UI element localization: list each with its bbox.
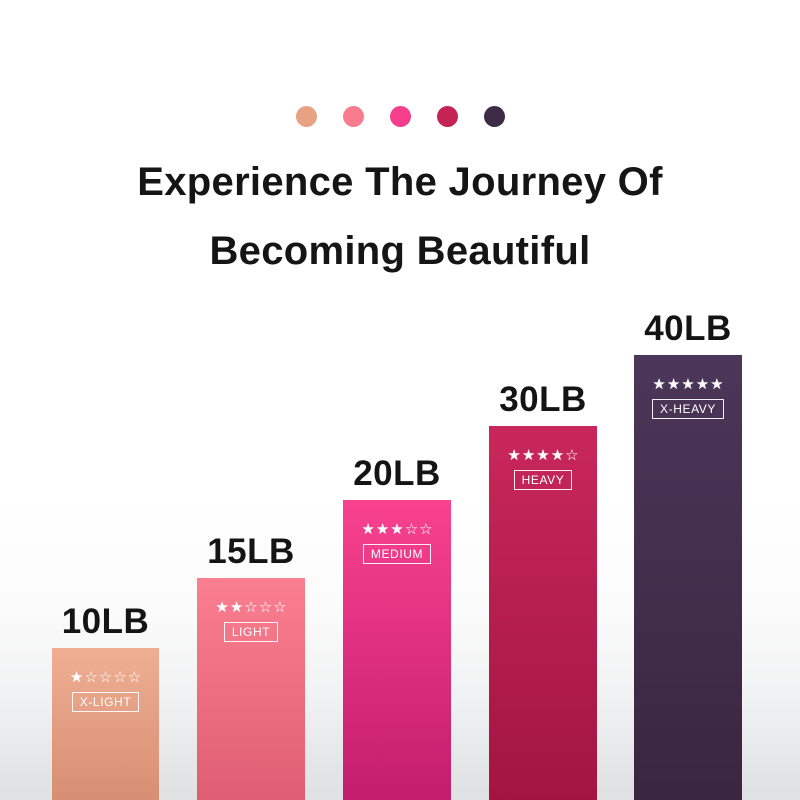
tier-badge: X-LIGHT	[72, 692, 140, 712]
star-rating: ★★★☆☆	[353, 522, 441, 537]
star-filled-icon: ★	[390, 522, 403, 537]
bar-group[interactable]: 15LB★★☆☆☆LIGHT	[197, 578, 305, 800]
star-rating: ★☆☆☆☆	[62, 670, 150, 685]
bar-group[interactable]: 10LB★☆☆☆☆X-LIGHT	[52, 648, 159, 800]
bar-group[interactable]: 40LB★★★★★X-HEAVY	[634, 355, 742, 800]
bar-value-label: 10LB	[62, 602, 150, 642]
star-empty-icon: ☆	[565, 448, 578, 463]
star-empty-icon: ☆	[273, 600, 286, 615]
resistance-bar-chart: 10LB★☆☆☆☆X-LIGHT15LB★★☆☆☆LIGHT20LB★★★☆☆M…	[0, 0, 800, 800]
star-filled-icon: ★	[551, 448, 564, 463]
star-empty-icon: ☆	[405, 522, 418, 537]
star-filled-icon: ★	[681, 377, 694, 392]
star-rating: ★★★★☆	[499, 448, 587, 463]
bar-x-heavy[interactable]: ★★★★★X-HEAVY	[634, 355, 742, 800]
bar-medium[interactable]: ★★★☆☆MEDIUM	[343, 500, 451, 800]
bar-value-label: 20LB	[353, 454, 441, 494]
promo-banner: Experience The Journey Of Becoming Beaut…	[0, 0, 800, 800]
star-rating: ★★☆☆☆	[207, 600, 295, 615]
bar-light[interactable]: ★★☆☆☆LIGHT	[197, 578, 305, 800]
tier-badge: LIGHT	[224, 622, 278, 642]
bar-badge: ★★☆☆☆LIGHT	[207, 600, 295, 642]
bar-badge: ★★★★☆HEAVY	[499, 448, 587, 490]
star-filled-icon: ★	[70, 670, 83, 685]
tier-badge: X-HEAVY	[652, 399, 724, 419]
star-filled-icon: ★	[667, 377, 680, 392]
star-empty-icon: ☆	[419, 522, 432, 537]
star-empty-icon: ☆	[113, 670, 126, 685]
star-empty-icon: ☆	[259, 600, 272, 615]
bar-badge: ★★★☆☆MEDIUM	[353, 522, 441, 564]
star-filled-icon: ★	[361, 522, 374, 537]
star-filled-icon: ★	[230, 600, 243, 615]
star-filled-icon: ★	[652, 377, 665, 392]
bar-x-light[interactable]: ★☆☆☆☆X-LIGHT	[52, 648, 159, 800]
star-empty-icon: ☆	[244, 600, 257, 615]
bar-value-label: 15LB	[207, 532, 295, 572]
star-filled-icon: ★	[507, 448, 520, 463]
bar-group[interactable]: 20LB★★★☆☆MEDIUM	[343, 500, 451, 800]
star-filled-icon: ★	[215, 600, 228, 615]
star-filled-icon: ★	[696, 377, 709, 392]
tier-badge: MEDIUM	[363, 544, 431, 564]
bar-value-label: 40LB	[644, 309, 732, 349]
star-filled-icon: ★	[376, 522, 389, 537]
bar-badge: ★☆☆☆☆X-LIGHT	[62, 670, 150, 712]
bar-value-label: 30LB	[499, 380, 587, 420]
star-filled-icon: ★	[522, 448, 535, 463]
star-filled-icon: ★	[536, 448, 549, 463]
bar-heavy[interactable]: ★★★★☆HEAVY	[489, 426, 597, 800]
bar-group[interactable]: 30LB★★★★☆HEAVY	[489, 426, 597, 800]
star-empty-icon: ☆	[99, 670, 112, 685]
bar-badge: ★★★★★X-HEAVY	[644, 377, 732, 419]
star-empty-icon: ☆	[84, 670, 97, 685]
tier-badge: HEAVY	[514, 470, 573, 490]
star-filled-icon: ★	[710, 377, 723, 392]
star-rating: ★★★★★	[644, 377, 732, 392]
star-empty-icon: ☆	[128, 670, 141, 685]
